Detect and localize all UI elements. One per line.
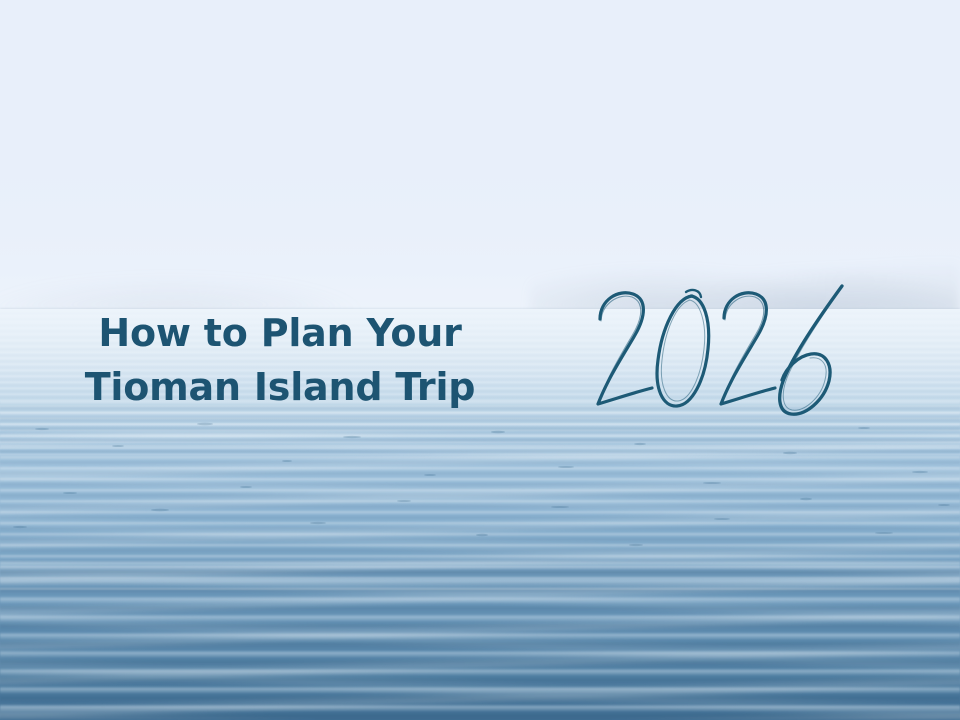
headline-line-2: Tioman Island Trip: [0, 360, 560, 414]
year-script-2026: [588, 276, 868, 436]
headline-line-1: How to Plan Your: [0, 306, 560, 360]
page-title: How to Plan Your Tioman Island Trip: [0, 306, 560, 414]
hero-banner: How to Plan Your Tioman Island Trip: [0, 0, 960, 720]
water-glints: [0, 415, 960, 565]
year-script-strokes: [588, 276, 868, 436]
